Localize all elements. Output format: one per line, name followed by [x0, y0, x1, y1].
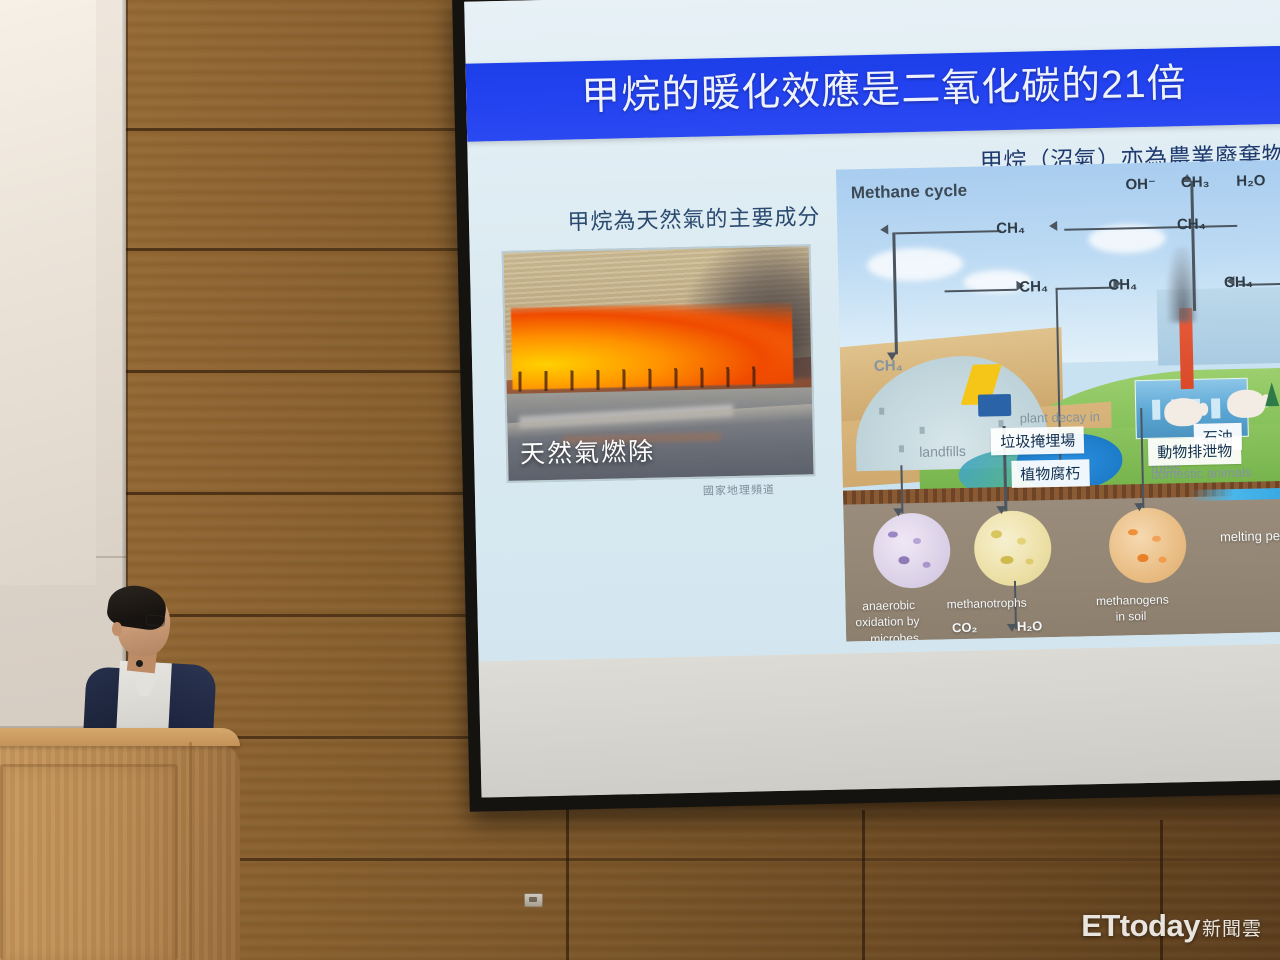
left-upper-wall [0, 0, 96, 585]
oh-label: OH⁻ [1125, 174, 1156, 193]
left-caption: 甲烷為天然氣的主要成分 [529, 198, 860, 237]
watermark: ETtoday 新聞雲 [1081, 908, 1262, 944]
watermark-brand: ETtoday [1081, 908, 1200, 944]
wall-divider [566, 800, 569, 960]
landfills-label: landfills [919, 443, 966, 460]
methanogens-label-1: methanogens [1096, 592, 1169, 608]
screen-blank-area [479, 644, 1280, 798]
animal-waste-tag: 動物排泄物 [1148, 437, 1242, 466]
methane-cycle-diagram: Methane cycle OH⁻ CH₃ H₂O CH₄ CH₄ CH₄ CH… [836, 159, 1280, 641]
slide: 甲烷的暖化效應是二氧化碳的21倍 甲烷（沼氣）亦為農業廢棄物分解 甲烷為天然氣的… [464, 0, 1280, 662]
ch4-label-e: CH₄ [874, 357, 903, 375]
h2o-top-label: H₂O [1236, 172, 1266, 190]
watermark-suffix: 新聞雲 [1202, 914, 1262, 944]
landfill-tag: 垃圾掩埋場 [991, 426, 1085, 455]
podium [0, 728, 240, 960]
ch3-label: CH₃ [1181, 173, 1210, 191]
wall-divider [862, 810, 865, 960]
projection-screen: 甲烷的暖化效應是二氧化碳的21倍 甲烷（沼氣）亦為農業廢棄物分解 甲烷為天然氣的… [452, 0, 1280, 812]
gas-flaring-photo: 天然氣燃除 [502, 244, 816, 483]
diagram-title: Methane cycle [851, 181, 968, 204]
anaerobic-label-1: anaerobic [862, 598, 915, 613]
wall-outlet [524, 893, 543, 907]
domestic-animals-label: domestic animals [1151, 465, 1252, 482]
ch4-label-a: CH₄ [996, 220, 1025, 238]
glasses [145, 614, 165, 627]
ch4-label-b: CH₄ [1019, 278, 1048, 296]
lapel-mic [136, 660, 143, 667]
screen-surface: 甲烷的暖化效應是二氧化碳的21倍 甲烷（沼氣）亦為農業廢棄物分解 甲烷為天然氣的… [464, 0, 1280, 798]
plant-decay-tag: 植物腐朽 [1011, 459, 1090, 488]
methanogens-label-2: in soil [1115, 609, 1146, 624]
presentation-scene: 甲烷的暖化效應是二氧化碳的21倍 甲烷（沼氣）亦為農業廢棄物分解 甲烷為天然氣的… [0, 0, 1280, 960]
slide-title-band: 甲烷的暖化效應是二氧化碳的21倍 [464, 44, 1280, 142]
co2-label: CO₂ [952, 620, 978, 636]
ch4-main-label: CH₄ [1177, 216, 1206, 234]
photo-label: 天然氣燃除 [520, 432, 656, 471]
ch4-label-d: CH₄ [1224, 274, 1253, 292]
ch4-label-c: CH₄ [1108, 276, 1137, 294]
photo-credit: 國家地理頻道 [703, 481, 775, 499]
slide-title: 甲烷的暖化效應是二氧化碳的21倍 [581, 52, 1187, 121]
h2o-soil-label: H₂O [1017, 618, 1043, 634]
methanotrophs-label: methanotrophs [946, 595, 1026, 611]
anaerobic-label-3: microbes [870, 631, 919, 642]
anaerobic-label-2: oxidation by [855, 614, 919, 629]
melting-permafrost-label: melting perm [1220, 528, 1280, 545]
plant-decay-label: plant decay in [1020, 409, 1101, 426]
